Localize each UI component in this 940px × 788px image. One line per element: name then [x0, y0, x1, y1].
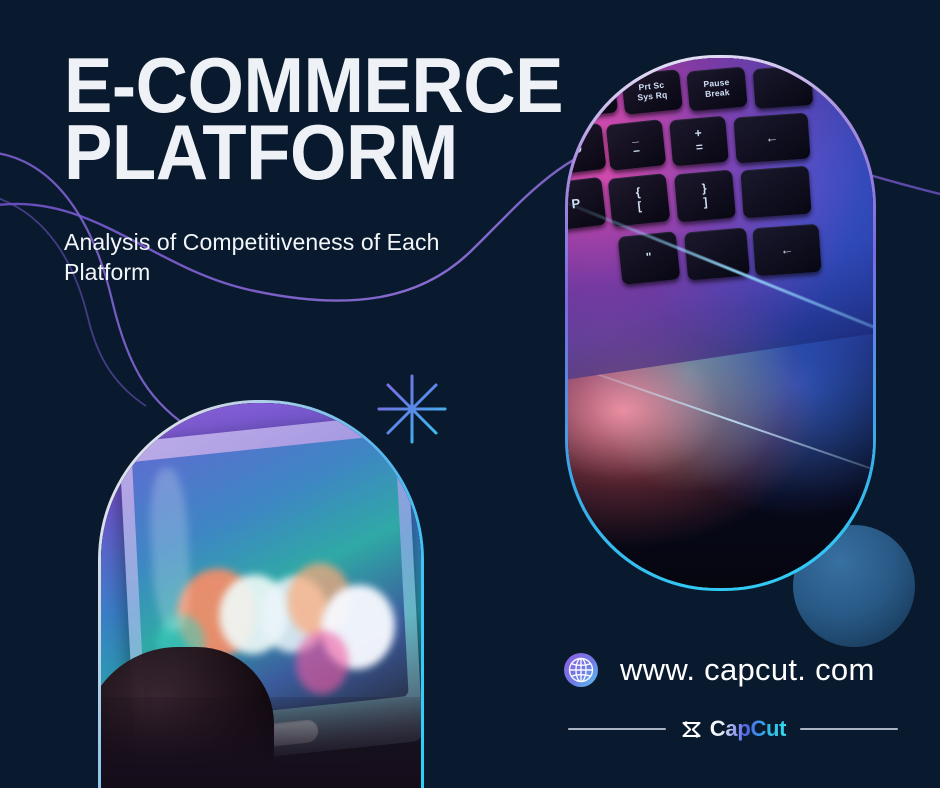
page-title: E-COMMERCE PLATFORM — [64, 52, 464, 186]
keyboard-photo-frame: Prt ScSys Rq PauseBreak O _− += ← P {[ }… — [565, 55, 876, 591]
subtitle: Analysis of Competitiveness of Each Plat… — [64, 228, 464, 288]
key-f-row-left — [568, 72, 618, 119]
website-row: www. capcut. com — [560, 649, 875, 691]
phone-photo-shadow — [101, 697, 421, 788]
globe-icon — [560, 649, 602, 691]
key-pipe — [740, 166, 811, 219]
key-brace-open: {[ — [608, 173, 671, 227]
key-plus: += — [669, 116, 729, 167]
key-pause-break: PauseBreak — [686, 67, 747, 112]
capcut-wordmark: CapCut — [710, 716, 786, 742]
key-backspace: ← — [733, 112, 810, 163]
poster-canvas: E-COMMERCE PLATFORM Analysis of Competit… — [0, 0, 940, 788]
brand-row: CapCut — [568, 716, 898, 742]
key-minus: _− — [606, 119, 667, 171]
title-line-2: PLATFORM — [64, 119, 464, 186]
capcut-logo-mark-icon — [680, 718, 703, 741]
phone-photo — [101, 403, 421, 788]
screen-glare — [147, 467, 192, 633]
key-o: O — [568, 123, 607, 175]
divider-left — [568, 728, 666, 730]
capcut-brand: CapCut — [680, 716, 786, 742]
key-brace-close: }] — [674, 170, 736, 223]
key-arrow-left: ← — [752, 224, 821, 276]
website-url[interactable]: www. capcut. com — [620, 652, 875, 688]
divider-right — [800, 728, 898, 730]
headline-block: E-COMMERCE PLATFORM Analysis of Competit… — [64, 52, 494, 288]
phone-photo-image — [101, 403, 421, 788]
key-f-row-right — [753, 65, 814, 109]
keyboard-edge-highlight — [568, 361, 873, 482]
key-prt-sc: Prt ScSys Rq — [621, 69, 683, 115]
keyboard-photo-image: Prt ScSys Rq PauseBreak O _− += ← P {[ }… — [568, 58, 873, 588]
phone-photo-frame — [98, 400, 424, 788]
keyboard-photo: Prt ScSys Rq PauseBreak O _− += ← P {[ }… — [568, 58, 873, 588]
key-quote: " — [618, 231, 681, 285]
